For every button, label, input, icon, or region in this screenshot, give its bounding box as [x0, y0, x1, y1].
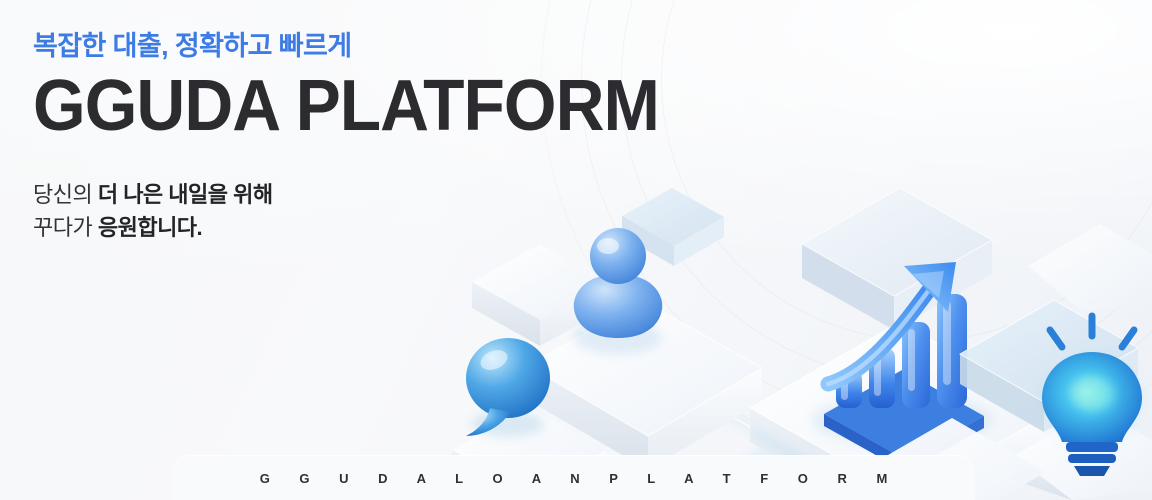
hero-subtitle-line-1: 당신의 더 나은 내일을 위해: [33, 178, 653, 211]
hero-banner: 복잡한 대출, 정확하고 빠르게 GGUDA PLATFORM 당신의 더 나은…: [0, 0, 1152, 500]
bar-3: [902, 322, 930, 408]
hero-subtitle-line-2: 꾸다가 응원합니다.: [33, 211, 653, 244]
hero-copy: 복잡한 대출, 정확하고 빠르게 GGUDA PLATFORM 당신의 더 나은…: [33, 30, 653, 244]
subtitle-l2-light: 꾸다가: [33, 215, 98, 240]
subtitle-l1-light: 당신의: [33, 182, 98, 207]
bottom-brand-label: G G U D A L O A N P L A T F O R M: [247, 471, 901, 486]
hero-tagline: 복잡한 대출, 정확하고 빠르게: [33, 30, 653, 62]
speech-bubble-3d-icon: [466, 338, 550, 437]
page-title: GGUDA PLATFORM: [33, 70, 616, 143]
tile-far-right-edge: [1028, 224, 1152, 310]
subtitle-l2-bold: 응원합니다.: [98, 215, 202, 240]
hero-subtitle: 당신의 더 나은 내일을 위해 꾸다가 응원합니다.: [33, 178, 653, 244]
bottom-brand-bar: G G U D A L O A N P L A T F O R M: [172, 456, 975, 500]
bar-4: [937, 294, 967, 408]
subtitle-l1-bold: 더 나은 내일을 위해: [98, 182, 273, 207]
